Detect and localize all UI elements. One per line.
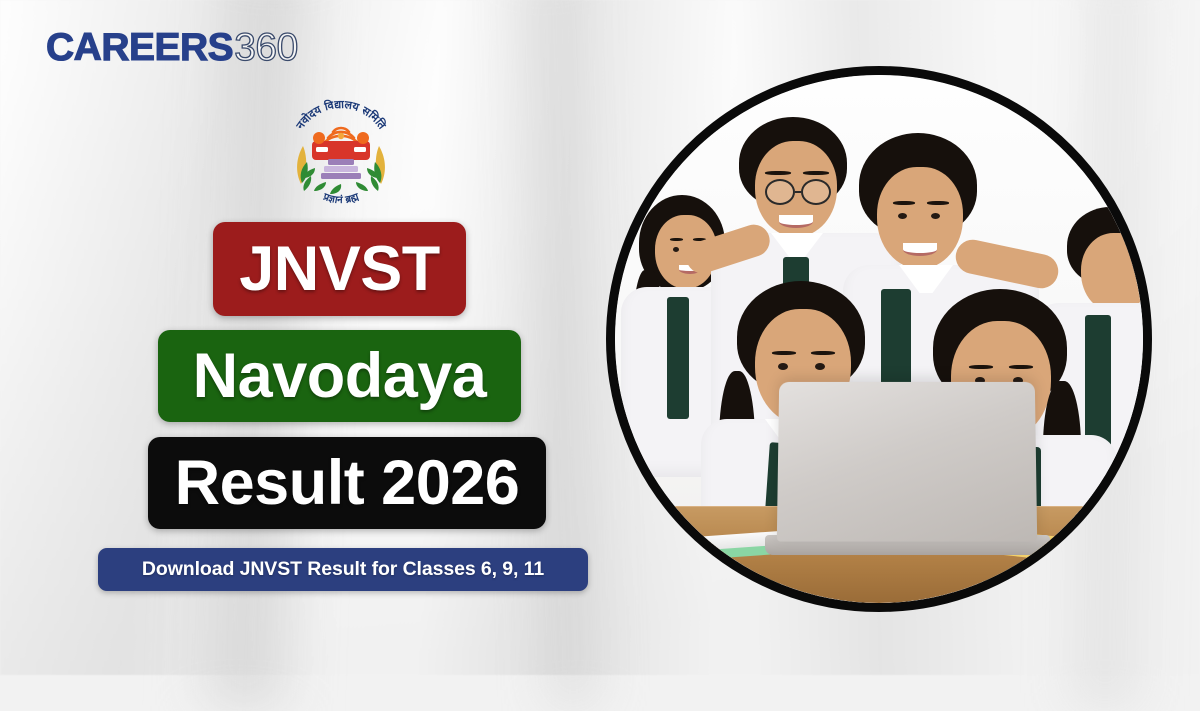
navodaya-vidyalaya-samiti-emblem-icon: नवोदय विद्यालय समिति [281, 88, 401, 210]
careers360-logo[interactable]: CAREERS 360 [46, 26, 298, 70]
subtitle-banner[interactable]: Download JNVST Result for Classes 6, 9, … [98, 548, 588, 591]
laptop-screen [777, 382, 1037, 542]
svg-text:प्रज्ञानं ब्रह्म: प्रज्ञानं ब्रह्म [321, 191, 362, 206]
brand-name-light: 360 [234, 26, 298, 70]
headline-chip-navodaya: Navodaya [158, 330, 521, 422]
students-photo-circle [606, 66, 1152, 612]
brand-name-bold: CAREERS [46, 26, 233, 70]
students-photo [615, 75, 1143, 603]
headline-chip-result: Result 2026 [148, 437, 546, 529]
headline-chip-jnvst: JNVST [213, 222, 466, 316]
